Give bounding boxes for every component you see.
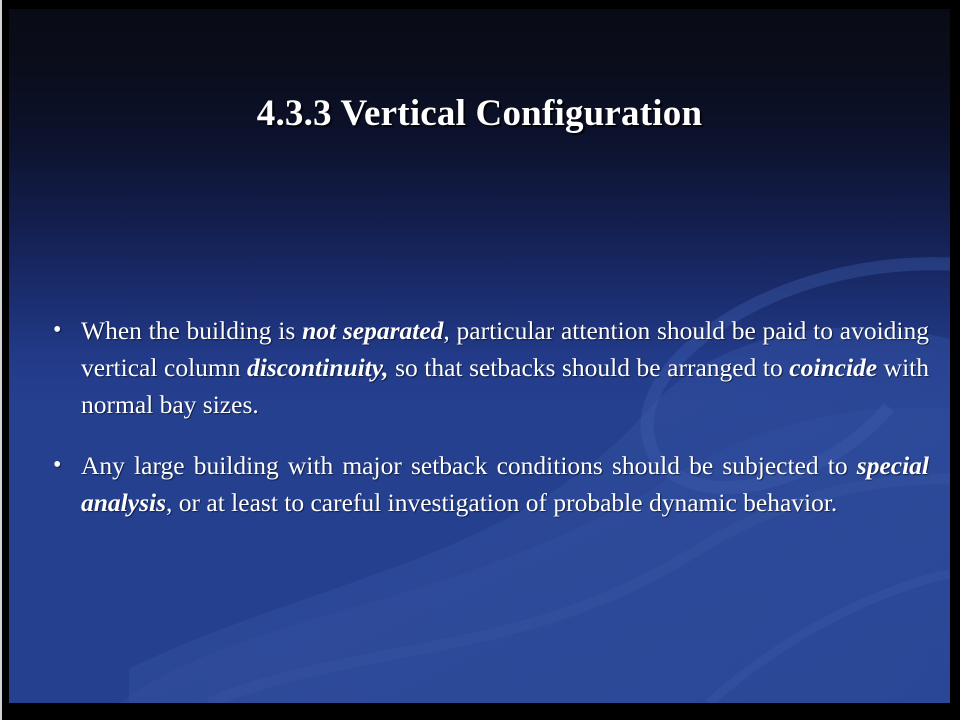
bullet-item-1: • When the building is not separated, pa…: [39, 312, 929, 423]
bullet-1-seg-4: so that setbacks should be arranged to: [389, 353, 790, 382]
bullet-marker-icon: •: [39, 447, 81, 484]
bullet-text-1: When the building is not separated, part…: [81, 312, 929, 423]
bullet-marker-icon: •: [39, 312, 81, 349]
page-title: 4.3.3 Vertical Configuration: [257, 92, 702, 136]
bullet-item-2: • Any large building with major setback …: [39, 447, 929, 521]
bullet-text-2: Any large building with major setback co…: [81, 447, 929, 521]
bullet-2-seg-2: , or at least to careful investigation o…: [166, 488, 837, 517]
slide-surface: 4.3.3 Vertical Configuration • When the …: [9, 9, 950, 703]
slide-title-container: 4.3.3 Vertical Configuration: [9, 92, 950, 136]
bullet-1-seg-3-emphasis: discontinuity,: [247, 353, 388, 382]
bullet-2-seg-0: Any large building with major setback co…: [81, 451, 857, 480]
bullet-1-seg-5-emphasis: coincide: [789, 353, 877, 382]
presentation-slide: 4.3.3 Vertical Configuration • When the …: [0, 0, 960, 720]
slide-body: • When the building is not separated, pa…: [39, 312, 929, 521]
bullet-1-seg-1-emphasis: not separated: [302, 316, 443, 345]
bullet-1-seg-0: When the building is: [81, 316, 302, 345]
